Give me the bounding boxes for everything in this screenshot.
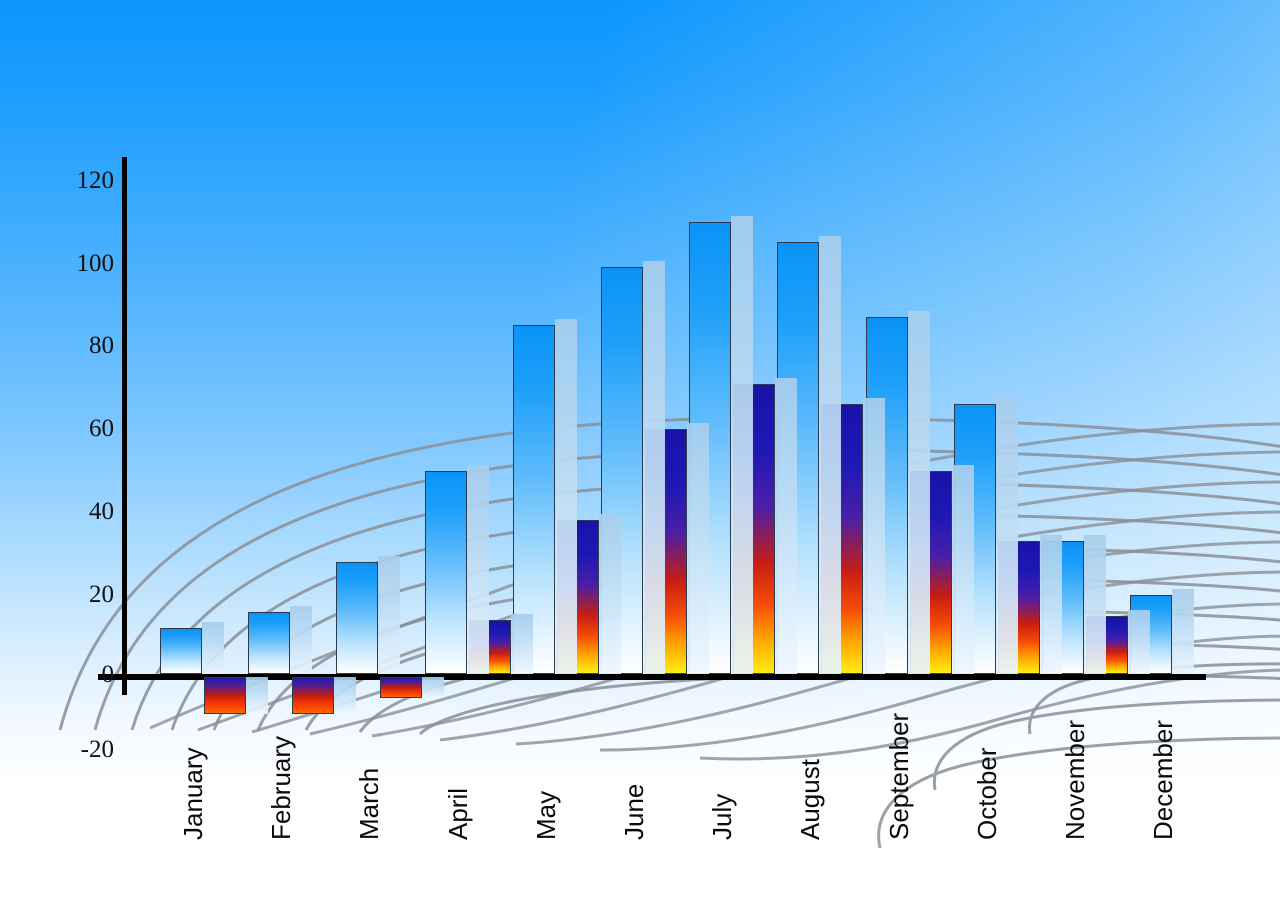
y-axis-line	[122, 157, 127, 695]
y-tick-minus-20: -20	[44, 736, 114, 764]
bar-front-face	[160, 628, 202, 674]
bar-side-face	[246, 677, 268, 714]
bar-front-face	[380, 677, 422, 698]
bar-side-face	[863, 398, 885, 674]
bar-side-face	[996, 398, 1018, 674]
category-label-may: May	[531, 791, 562, 840]
bar-side-face	[1040, 535, 1062, 674]
bar-side-face	[952, 465, 974, 674]
bar-side-face	[511, 614, 533, 674]
category-label-august: August	[795, 759, 826, 840]
y-tick-80: 80	[52, 332, 114, 360]
y-tick-40: 40	[52, 498, 114, 526]
bar-front-face	[204, 677, 246, 714]
bar-side-face	[1172, 589, 1194, 674]
bar-april-series-1	[425, 471, 489, 674]
bar-january-series-1	[160, 628, 224, 674]
bar-side-face	[467, 465, 489, 674]
bar-side-face	[599, 514, 621, 674]
bar-side-face	[1128, 610, 1150, 674]
bar-side-face	[1084, 535, 1106, 674]
bar-front-face	[248, 612, 290, 674]
bar-side-face	[643, 261, 665, 674]
plot-area: 120 100 80 60 40 20 0 -20 JanuaryFebruar…	[0, 0, 1280, 905]
bar-front-face	[292, 677, 334, 714]
category-label-january: January	[178, 748, 209, 841]
bar-side-face	[555, 319, 577, 674]
bar-march-series-2	[380, 677, 444, 698]
bar-front-face	[425, 471, 467, 674]
bar-side-face	[819, 236, 841, 674]
category-label-october: October	[972, 748, 1003, 841]
y-tick-100: 100	[52, 250, 114, 278]
category-label-february: February	[266, 736, 297, 840]
category-label-june: June	[619, 784, 650, 840]
y-tick-60: 60	[52, 415, 114, 443]
bar-front-face	[336, 562, 378, 674]
bar-february-series-1	[248, 612, 312, 674]
category-label-march: March	[354, 768, 385, 840]
bar-side-face	[378, 556, 400, 674]
bar-february-series-2	[292, 677, 356, 714]
chart-canvas: 120 100 80 60 40 20 0 -20 JanuaryFebruar…	[0, 0, 1280, 905]
y-tick-0: 0	[52, 661, 114, 689]
category-label-april: April	[443, 788, 474, 840]
bar-march-series-1	[336, 562, 400, 674]
bar-side-face	[775, 378, 797, 675]
bar-side-face	[422, 677, 444, 698]
bar-side-face	[687, 423, 709, 674]
bar-side-face	[334, 677, 356, 714]
y-tick-120: 120	[52, 167, 114, 195]
bar-side-face	[908, 311, 930, 674]
bar-january-series-2	[204, 677, 268, 714]
bar-side-face	[731, 216, 753, 674]
category-label-july: July	[707, 794, 738, 840]
category-label-december: December	[1148, 720, 1179, 840]
bar-side-face	[290, 606, 312, 674]
bar-side-face	[202, 622, 224, 674]
y-tick-20: 20	[52, 581, 114, 609]
category-label-september: September	[884, 713, 915, 840]
category-label-november: November	[1060, 720, 1091, 840]
